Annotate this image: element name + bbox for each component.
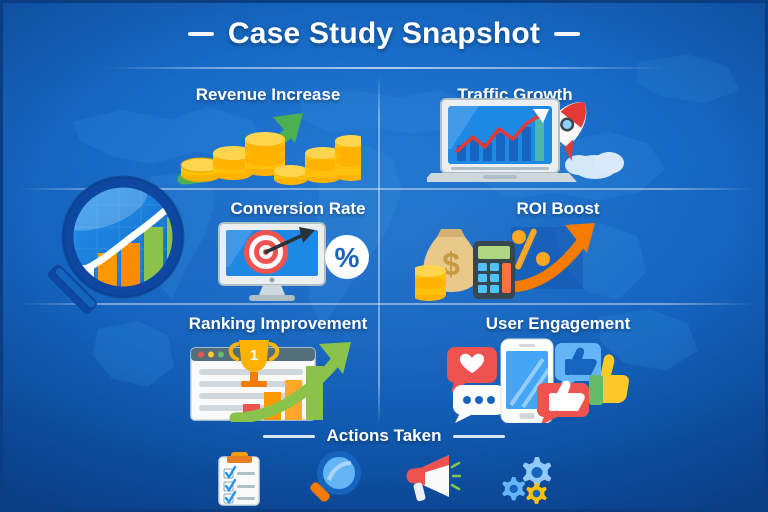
- actions-icon-row: [3, 449, 765, 507]
- cloud-icon: [565, 152, 624, 179]
- coin-stack-icon: [415, 265, 446, 301]
- thumbs-up-red-icon: [537, 381, 589, 423]
- gears-icon: [499, 449, 557, 507]
- gear-small-left-icon: [502, 477, 525, 500]
- coin-stacks-icon: [181, 132, 361, 185]
- trophy-rank-label: 1: [250, 347, 258, 364]
- divider-vertical: [378, 75, 380, 425]
- poster-title-row: Case Study Snapshot: [3, 17, 765, 51]
- footer-heading: Actions Taken: [327, 426, 442, 446]
- user-engagement-artwork: [439, 335, 629, 423]
- conversion-rate-artwork: %: [199, 221, 371, 303]
- quadrant-label-ranking-improvement: Ranking Improvement: [153, 314, 403, 334]
- quadrant-roi-boost: ROI Boost: [443, 199, 673, 219]
- megaphone-icon: [403, 449, 461, 507]
- ranking-improvement-artwork: 1: [187, 336, 373, 422]
- footer-heading-row: Actions Taken: [3, 426, 765, 446]
- quadrant-label-revenue-increase: Revenue Increase: [153, 85, 383, 105]
- quadrant-label-user-engagement: User Engagement: [443, 314, 673, 334]
- title-underline: [104, 67, 664, 69]
- roi-boost-artwork: $: [415, 219, 615, 305]
- footer-dash-left-icon: [263, 435, 315, 438]
- quadrant-user-engagement: User Engagement: [443, 314, 673, 334]
- footer-dash-right-icon: [453, 435, 505, 438]
- page-title: Case Study Snapshot: [228, 17, 540, 51]
- percent-badge-icon: %: [325, 235, 369, 279]
- quadrant-ranking-improvement: Ranking Improvement: [153, 314, 403, 334]
- gear-small-bottom-icon: [526, 483, 547, 504]
- revenue-increase-artwork: [171, 107, 361, 187]
- svg-text:%: %: [335, 242, 360, 273]
- title-dash-right-icon: [554, 32, 580, 36]
- traffic-growth-artwork: [427, 89, 627, 185]
- gear-large-icon: [523, 457, 552, 487]
- quadrant-label-conversion-rate: Conversion Rate: [188, 199, 408, 219]
- title-dash-left-icon: [188, 32, 214, 36]
- chat-bubble-icon: [453, 385, 505, 423]
- quadrant-conversion-rate: Conversion Rate: [188, 199, 408, 219]
- quadrant-revenue-increase: Revenue Increase: [153, 85, 383, 105]
- clipboard-checklist-icon: [211, 449, 269, 507]
- quadrant-label-roi-boost: ROI Boost: [443, 199, 673, 219]
- calculator-icon: [473, 241, 515, 299]
- infographic-poster: Case Study Snapshot: [0, 0, 768, 512]
- magnifying-glass-icon: [307, 449, 365, 507]
- laptop-icon: [427, 99, 577, 182]
